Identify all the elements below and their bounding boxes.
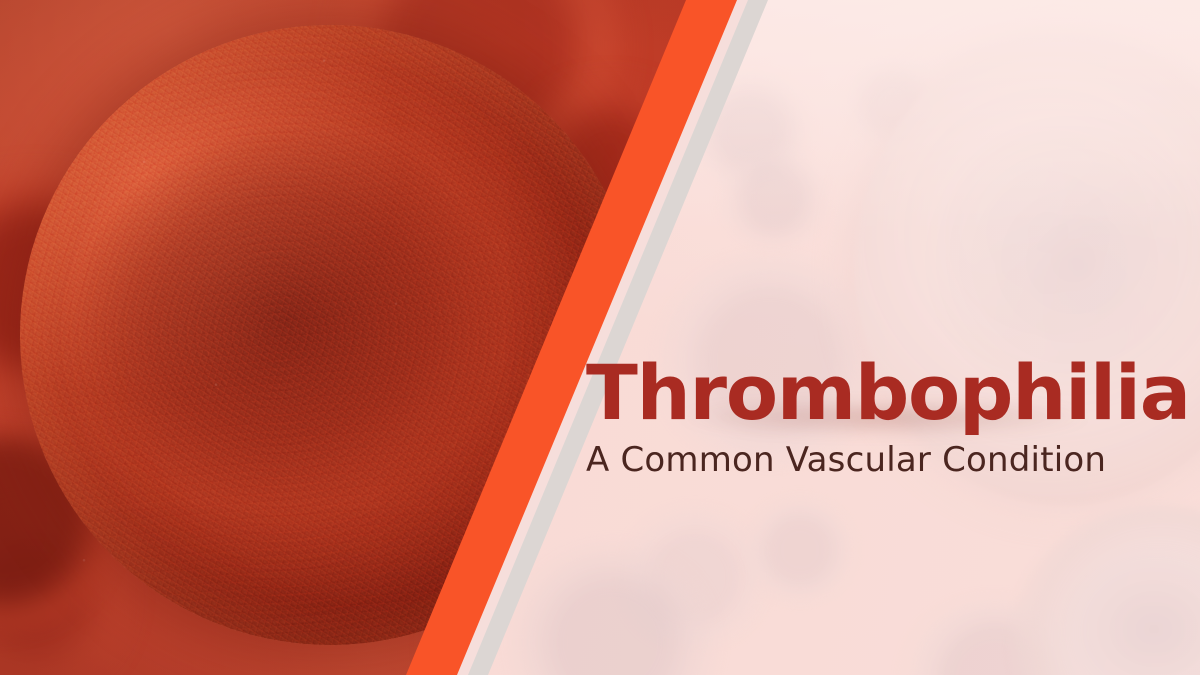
banner-text-block: Thrombophilia A Common Vascular Conditio… bbox=[586, 352, 1186, 480]
page-title: Thrombophilia bbox=[586, 352, 1186, 434]
thrombophilia-banner: Thrombophilia A Common Vascular Conditio… bbox=[0, 0, 1200, 675]
page-subtitle: A Common Vascular Condition bbox=[586, 440, 1186, 480]
